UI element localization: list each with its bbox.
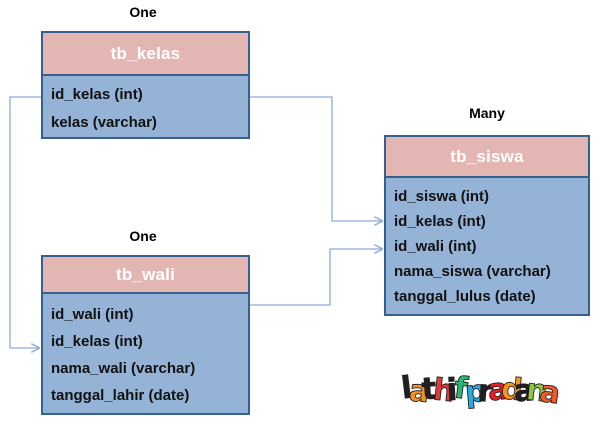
attribute-row: id_wali (int): [51, 301, 248, 328]
attribute-row: id_kelas (int): [51, 81, 248, 109]
attribute-row: id_kelas (int): [51, 328, 248, 355]
entity-tb-kelas[interactable]: tb_kelas id_kelas (int) kelas (varchar): [41, 31, 250, 139]
cardinality-label-tb-wali: One: [93, 228, 193, 244]
entity-title-tb-siswa: tb_siswa: [386, 137, 588, 178]
attribute-row: id_wali (int): [394, 234, 588, 259]
attribute-row: id_siswa (int): [394, 184, 588, 209]
connector-wali-to-siswa: [250, 249, 382, 305]
connector-kelas-to-wali: [10, 97, 41, 348]
entity-attributes-tb-kelas: id_kelas (int) kelas (varchar): [43, 76, 248, 137]
attribute-row: tanggal_lahir (date): [51, 382, 248, 409]
cardinality-label-tb-siswa: Many: [437, 105, 537, 121]
attribute-row: tanggal_lulus (date): [394, 284, 588, 309]
attribute-row: nama_siswa (varchar): [394, 259, 588, 284]
attribute-row: nama_wali (varchar): [51, 355, 248, 382]
connector-kelas-to-siswa: [250, 97, 382, 221]
entity-title-tb-wali: tb_wali: [43, 257, 248, 294]
attribute-row: id_kelas (int): [394, 209, 588, 234]
attribute-row: kelas (varchar): [51, 109, 248, 137]
entity-tb-siswa[interactable]: tb_siswa id_siswa (int) id_kelas (int) i…: [384, 135, 590, 316]
entity-attributes-tb-wali: id_wali (int) id_kelas (int) nama_wali (…: [43, 294, 248, 413]
entity-tb-wali[interactable]: tb_wali id_wali (int) id_kelas (int) nam…: [41, 255, 250, 415]
svg-text:a: a: [538, 374, 563, 411]
entity-attributes-tb-siswa: id_siswa (int) id_kelas (int) id_wali (i…: [386, 178, 588, 314]
cardinality-label-tb-kelas: One: [93, 4, 193, 20]
entity-title-tb-kelas: tb_kelas: [43, 33, 248, 76]
watermark-lathifpradana: lathifpradana: [398, 358, 598, 414]
er-diagram-canvas: One One Many tb_kelas id_kelas (int) kel…: [0, 0, 604, 429]
